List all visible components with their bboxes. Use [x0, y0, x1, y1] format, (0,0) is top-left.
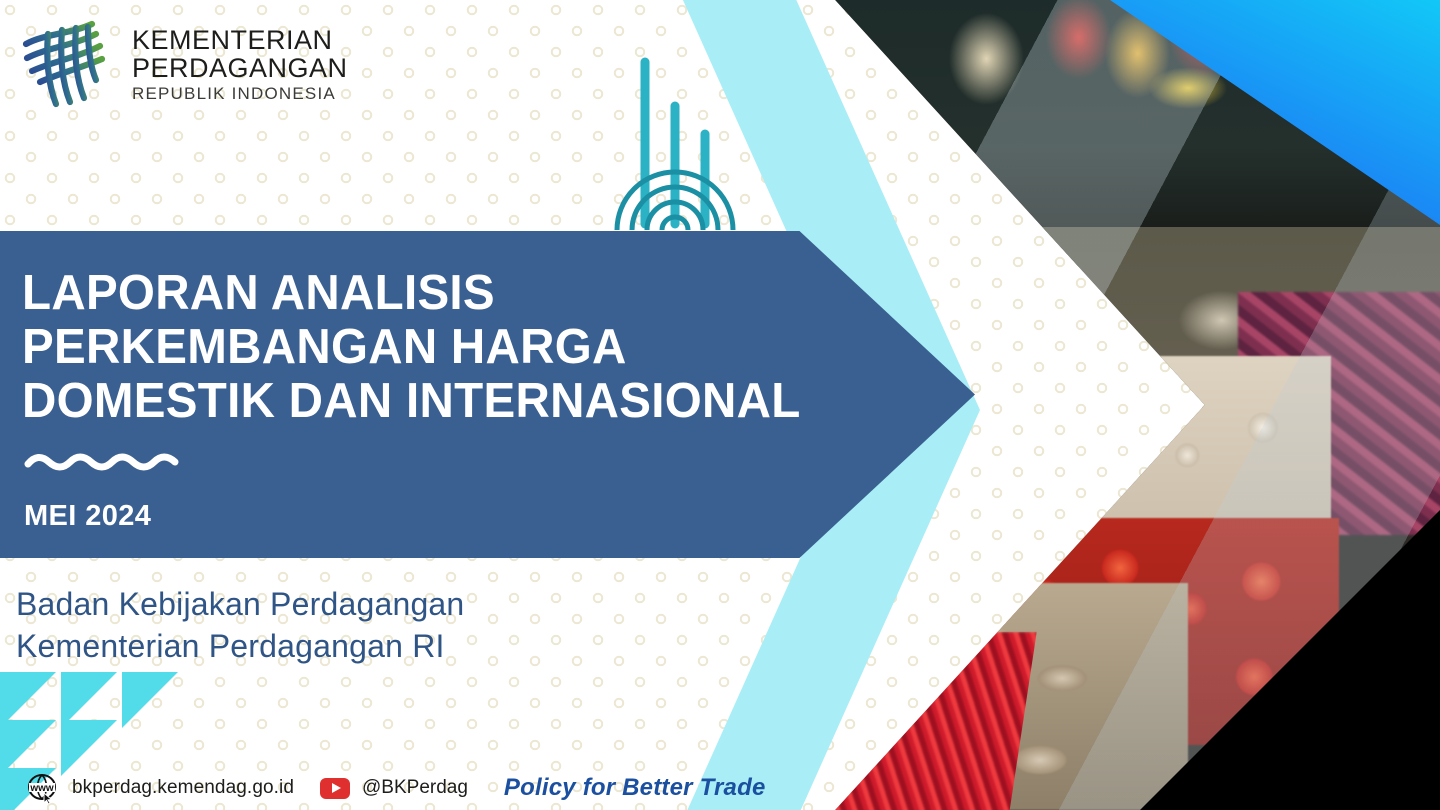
www-globe-cursor-icon: www — [26, 772, 60, 804]
slide-canvas: KEMENTERIAN PERDAGANGAN REPUBLIK INDONES… — [0, 0, 1440, 810]
page-title-line2: PERKEMBANGAN HARGA — [22, 321, 946, 375]
youtube-play-icon[interactable] — [320, 778, 350, 799]
subtitle-line2: Kementerian Perdagangan RI — [16, 625, 636, 667]
org-name-line3: REPUBLIK INDONESIA — [132, 85, 348, 102]
youtube-handle[interactable]: @BKPerdag — [362, 777, 468, 799]
footer-bar: www bkperdag.kemendag.go.id @BKPerdag Po… — [0, 764, 1440, 810]
subtitle-line1: Badan Kebijakan Perdagangan — [16, 583, 636, 625]
svg-text:www: www — [29, 783, 54, 794]
org-name-line2: PERDAGANGAN — [132, 55, 348, 82]
title-block: LAPORAN ANALISIS PERKEMBANGAN HARGA DOME… — [0, 231, 975, 558]
ministry-logo-lockup: KEMENTERIAN PERDAGANGAN REPUBLIK INDONES… — [18, 14, 348, 114]
page-title-line1: LAPORAN ANALISIS — [22, 267, 946, 321]
wavy-divider-icon — [24, 449, 975, 478]
org-name-line1: KEMENTERIAN — [132, 27, 348, 54]
subtitle: Badan Kebijakan Perdagangan Kementerian … — [16, 583, 636, 667]
tagline: Policy for Better Trade — [504, 774, 766, 802]
kemendag-woven-logo-icon — [18, 14, 118, 114]
website-url[interactable]: bkperdag.kemendag.go.id — [72, 777, 294, 799]
growth-chart-arcs-icon — [612, 34, 742, 234]
page-title-line3: DOMESTIK DAN INTERNASIONAL — [22, 375, 946, 429]
